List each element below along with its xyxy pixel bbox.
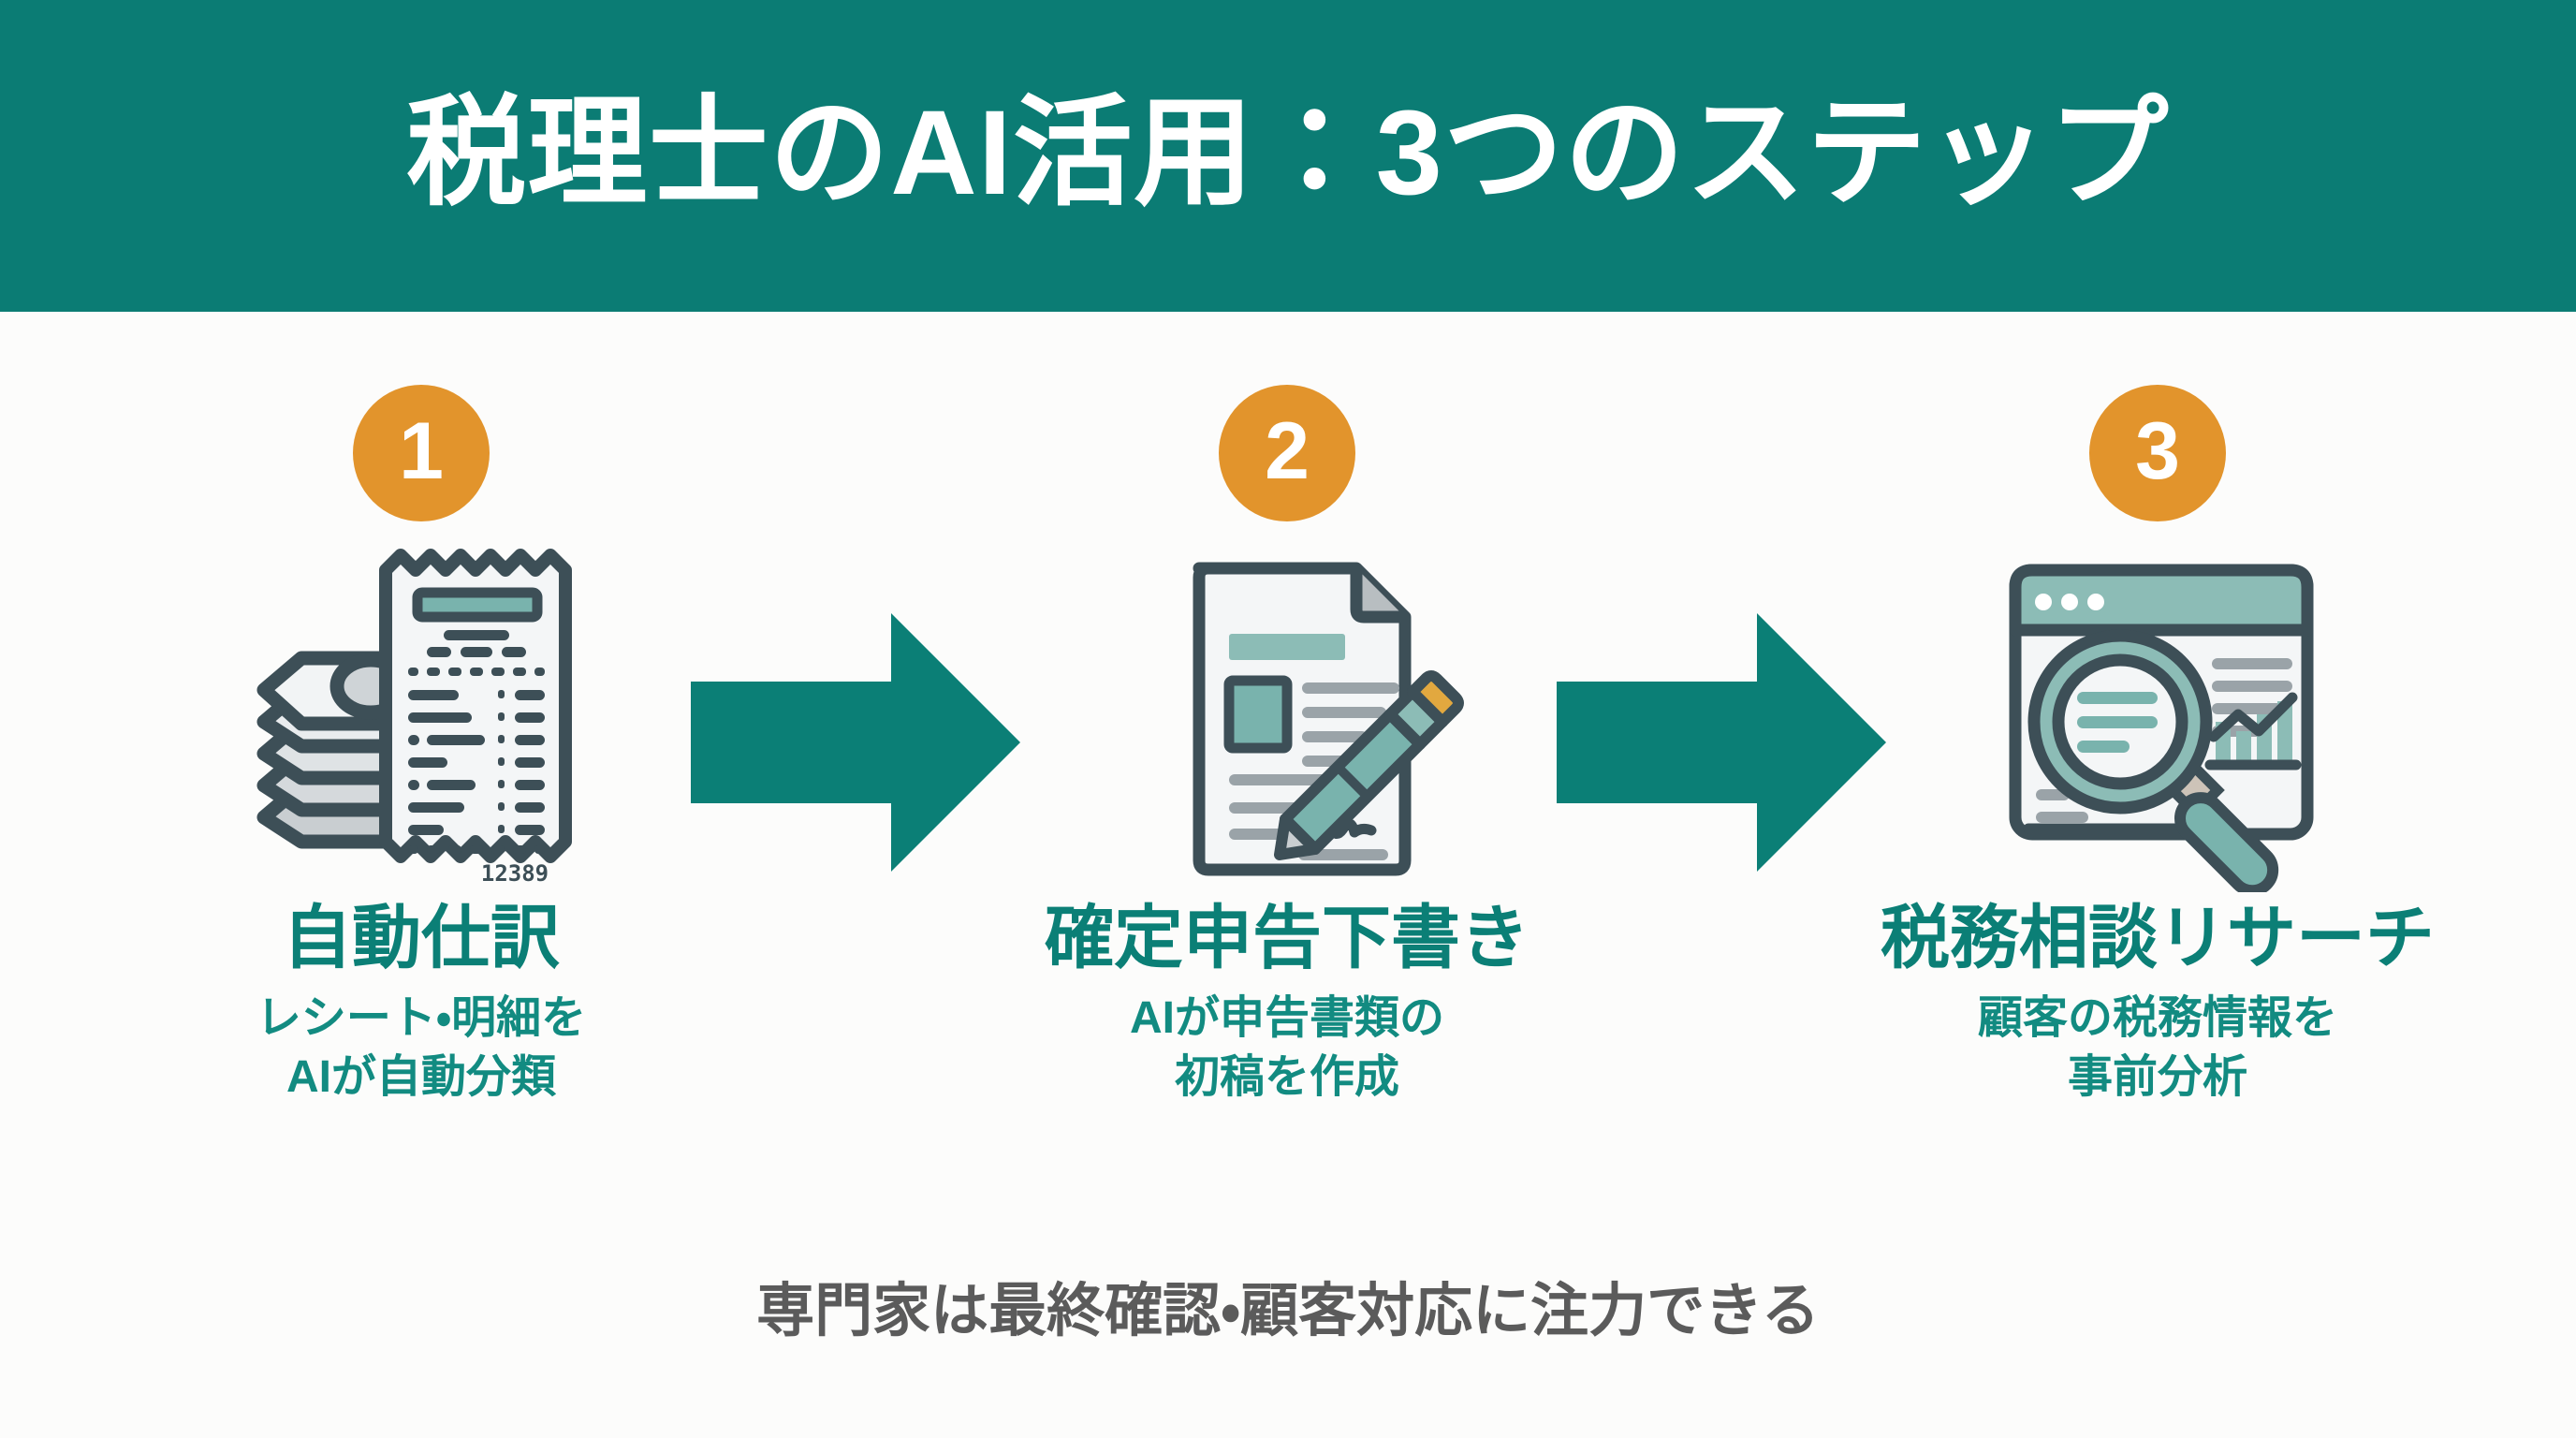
step-badge-3: 3 xyxy=(2089,385,2226,521)
document-pen-icon xyxy=(1109,544,1465,892)
step-number-1: 1 xyxy=(399,411,444,492)
footer-note: 専門家は最終確認・顧客対応に注力できる xyxy=(0,1283,2576,1341)
step-description-2: AIが申告書類の 初稿を作成 xyxy=(1130,990,1444,1107)
flow-arrow-1-icon xyxy=(691,613,1020,872)
flow-arrow-2-icon xyxy=(1557,613,1886,872)
step-title-3: 税務相談リサーチ xyxy=(1881,902,2435,975)
step-card-1: 1 xyxy=(56,312,786,1248)
step-badge-2: 2 xyxy=(1219,385,1355,521)
steps-row: 1 xyxy=(0,312,2576,1248)
step-description-1: レシート・明細を AIが自動分類 xyxy=(256,990,586,1107)
receipt-number: 12389 xyxy=(481,860,549,887)
step-card-3: 3 xyxy=(1793,312,2523,1248)
step-number-2: 2 xyxy=(1265,411,1310,492)
step-description-3: 顧客の税務情報を 事前分析 xyxy=(1978,990,2337,1107)
receipts-stack-icon: 12389 xyxy=(243,544,599,892)
browser-magnifier-chart-icon xyxy=(1980,544,2335,892)
header-band: 税理士のAI活用：3つのステップ xyxy=(0,0,2576,312)
step-card-2: 2 xyxy=(922,312,1652,1248)
step-number-3: 3 xyxy=(2135,411,2180,492)
page-title: 税理士のAI活用：3つのステップ xyxy=(406,94,2170,213)
infographic-page: 税理士のAI活用：3つのステップ 1 xyxy=(0,0,2576,1438)
step-title-2: 確定申告下書き xyxy=(1045,902,1529,975)
step-title-1: 自動仕訳 xyxy=(283,902,560,975)
step-badge-1: 1 xyxy=(353,385,490,521)
